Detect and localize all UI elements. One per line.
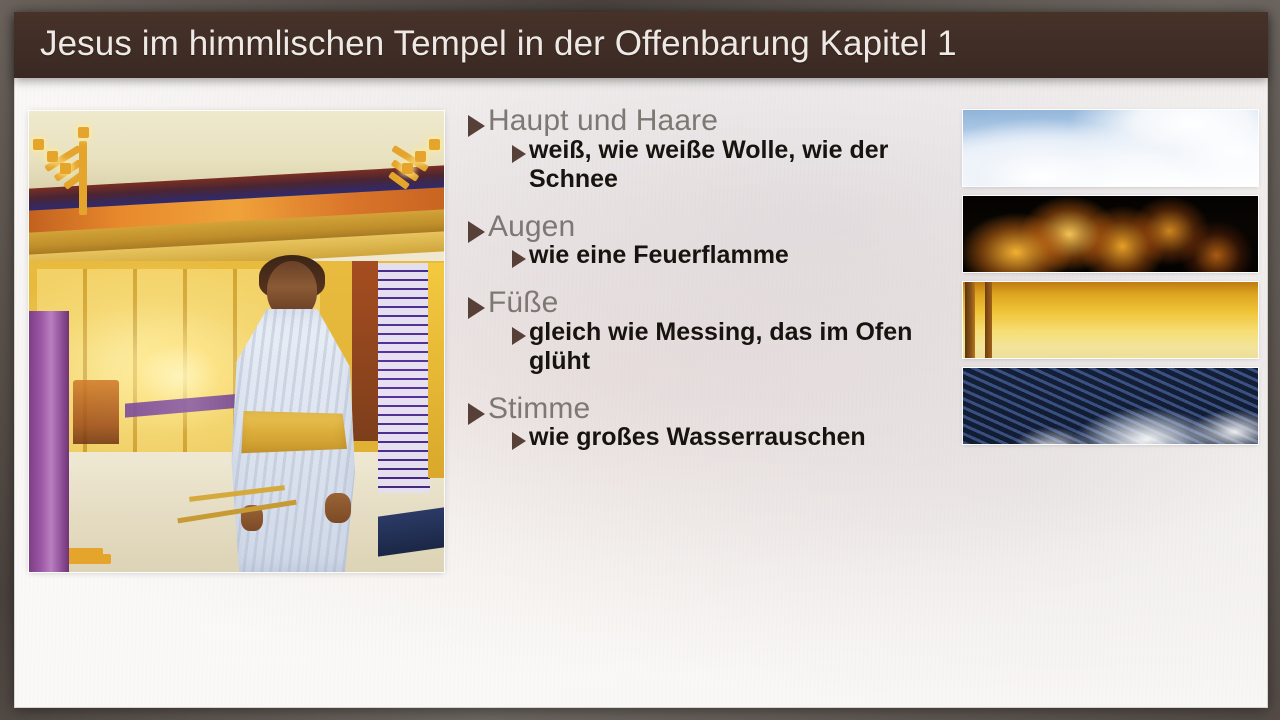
triangle-bullet-icon bbox=[468, 403, 485, 425]
bullet-level1: Haupt und Haare bbox=[468, 104, 968, 138]
triangle-bullet-icon bbox=[512, 432, 526, 450]
bullet-level1: Stimme bbox=[468, 392, 968, 426]
page-title: Jesus im himmlischen Tempel in der Offen… bbox=[40, 24, 957, 64]
bullet-level1-label: Füße bbox=[488, 286, 558, 320]
brass-image bbox=[963, 282, 1258, 358]
triangle-bullet-icon bbox=[512, 327, 526, 345]
curtain-right bbox=[378, 263, 430, 493]
jesus-figure bbox=[227, 261, 357, 572]
bullet-level2: wie eine Feuerflamme bbox=[512, 241, 968, 270]
content-bullet-list: Haupt und Haare weiß, wie weiße Wolle, w… bbox=[468, 102, 968, 452]
bullet-level1: Augen bbox=[468, 210, 968, 244]
bullet-level1-label: Augen bbox=[488, 210, 575, 244]
bullet-level2-label: gleich wie Messing, das im Ofen glüht bbox=[529, 318, 968, 376]
figure-right-hand bbox=[325, 493, 351, 523]
bullet-level2-label: wie großes Wasserrauschen bbox=[529, 423, 866, 452]
presentation-slide: Jesus im himmlischen Tempel in der Offen… bbox=[0, 0, 1280, 720]
water-image bbox=[963, 368, 1258, 444]
bullet-level1-label: Haupt und Haare bbox=[488, 104, 718, 138]
snow-image bbox=[963, 110, 1258, 186]
bullet-level1: Füße bbox=[468, 286, 968, 320]
temple-illustration bbox=[29, 111, 444, 572]
fire-image bbox=[963, 196, 1258, 272]
triangle-bullet-icon bbox=[512, 250, 526, 268]
figure-gold-sash bbox=[237, 411, 347, 455]
bullet-level2: gleich wie Messing, das im Ofen glüht bbox=[512, 318, 968, 376]
bullet-group: Stimme wie großes Wasserrauschen bbox=[468, 392, 968, 453]
triangle-bullet-icon bbox=[468, 115, 485, 137]
bullet-level2-label: wie eine Feuerflamme bbox=[529, 241, 789, 270]
triangle-bullet-icon bbox=[512, 145, 526, 163]
bullet-level1-label: Stimme bbox=[488, 392, 590, 426]
bullet-group: Haupt und Haare weiß, wie weiße Wolle, w… bbox=[468, 104, 968, 194]
bullet-group: Füße gleich wie Messing, das im Ofen glü… bbox=[468, 286, 968, 376]
curtain-left bbox=[29, 311, 69, 572]
curtain-right-gold bbox=[428, 263, 444, 478]
bullet-level2: weiß, wie weiße Wolle, wie der Schnee bbox=[512, 136, 968, 194]
triangle-bullet-icon bbox=[468, 297, 485, 319]
triangle-bullet-icon bbox=[468, 221, 485, 243]
bullet-group: Augen wie eine Feuerflamme bbox=[468, 210, 968, 271]
bullet-level2: wie großes Wasserrauschen bbox=[512, 423, 968, 452]
slide-title-bar: Jesus im himmlischen Tempel in der Offen… bbox=[14, 12, 1268, 78]
bullet-level2-label: weiß, wie weiße Wolle, wie der Schnee bbox=[529, 136, 968, 194]
altar bbox=[73, 380, 119, 444]
